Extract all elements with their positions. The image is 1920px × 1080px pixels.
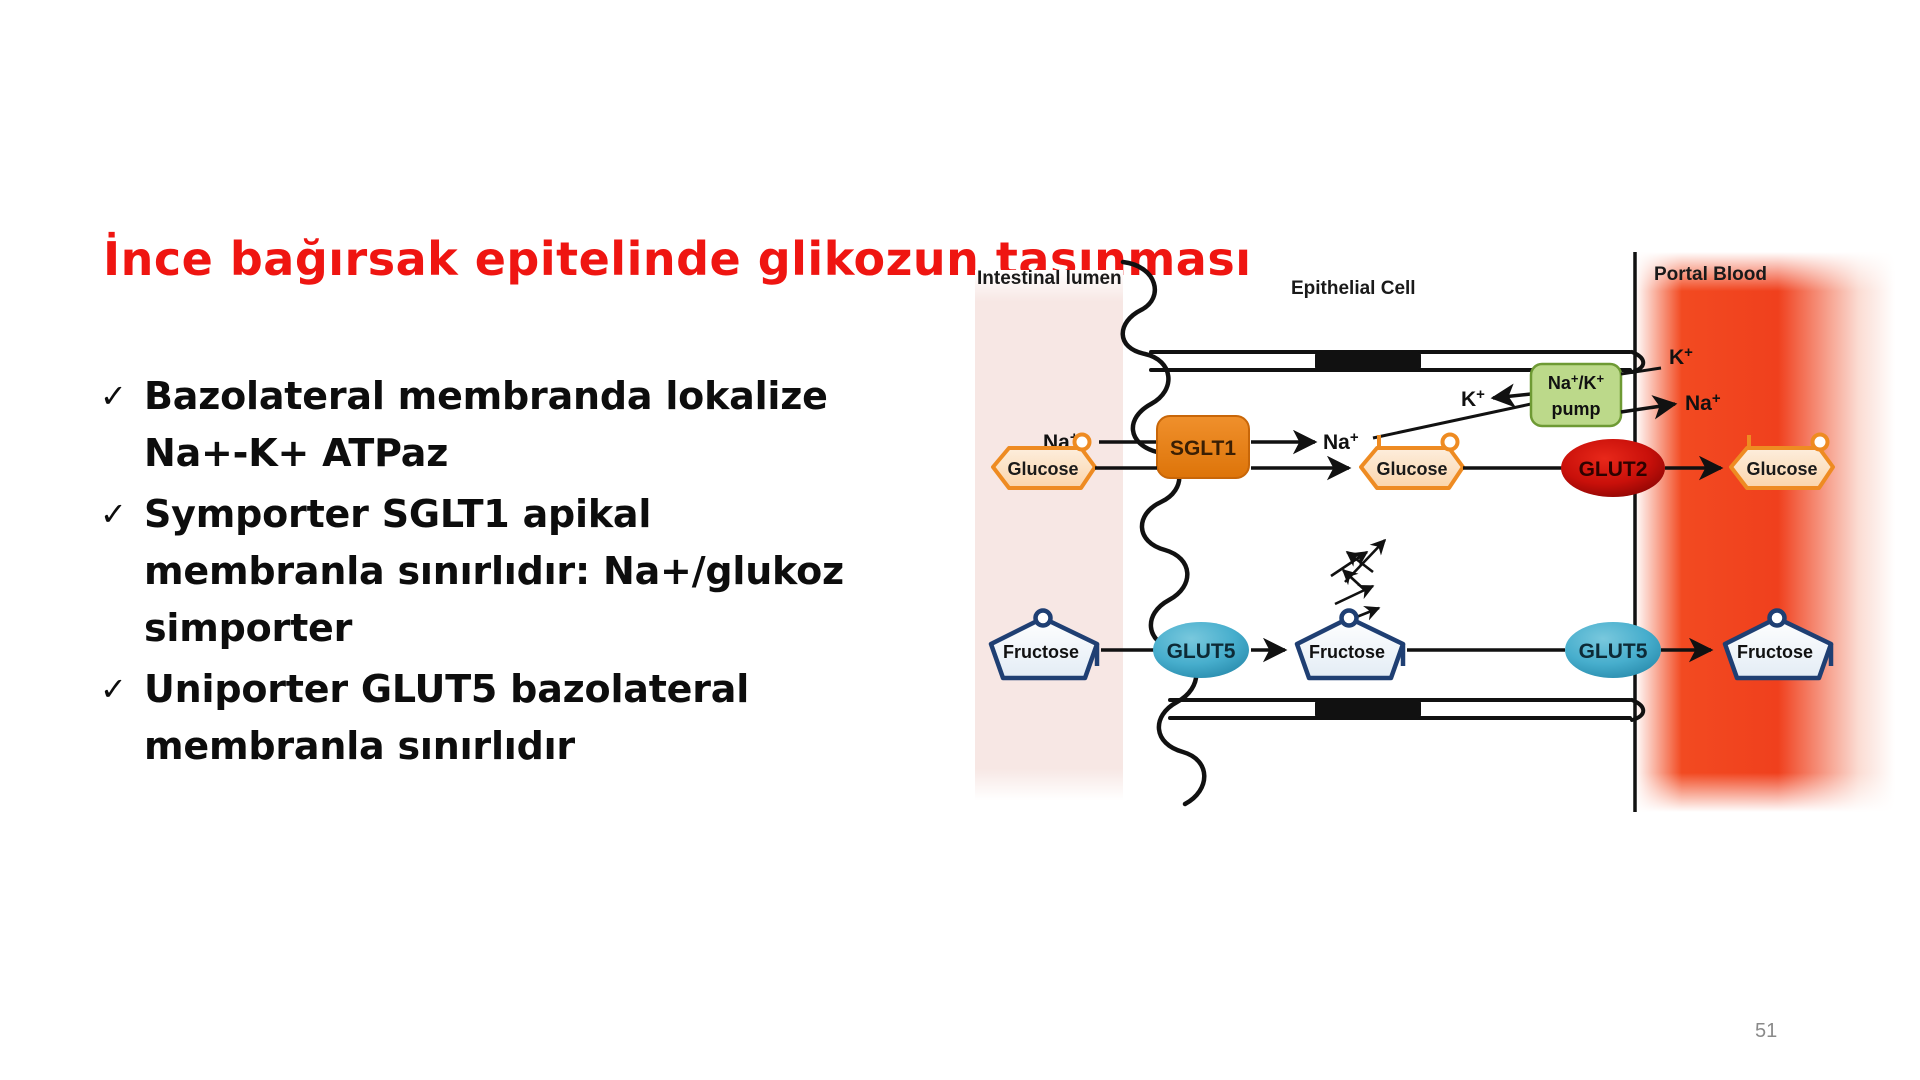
sglt1-transporter: SGLT1 [1157, 416, 1249, 478]
list-item: ✓ Bazolateral membranda lokalize Na+-K+ … [100, 368, 930, 482]
glut2-transporter: GLUT2 [1561, 439, 1665, 497]
list-item-label: Uniporter GLUT5 bazolateral membranla sı… [144, 661, 749, 775]
glut5-apical-label: GLUT5 [1167, 640, 1236, 663]
list-item-line: Uniporter GLUT5 bazolateral [144, 661, 749, 718]
na-k-pump-label-line2: pump [1552, 399, 1601, 419]
glut5-basolateral-transporter: GLUT5 [1565, 622, 1661, 678]
glucose-transport-diagram: Intestinal lumen Epithelial Cell Portal … [975, 252, 1895, 812]
glut5-basolateral-label: GLUT5 [1579, 640, 1648, 663]
na-k-pump: Na+/K+ pump [1531, 364, 1621, 426]
apical-membrane [1123, 262, 1205, 804]
na-cell-label: Na+ [1323, 429, 1359, 454]
fructose-cell-molecule: Fructose [1297, 611, 1403, 679]
list-item: ✓ Uniporter GLUT5 bazolateral membranla … [100, 661, 930, 775]
intestinal-lumen-label: Intestinal lumen [977, 268, 1122, 289]
diffusion-arrows [1331, 540, 1385, 624]
list-item-line: membranla sınırlıdır [144, 718, 749, 775]
pump-to-k-cell-arrow [1493, 394, 1531, 398]
list-item-line: membranla sınırlıdır: Na+/glukoz [144, 543, 844, 600]
k-cell-label: K+ [1461, 386, 1485, 411]
glucose-lumen-label: Glucose [1007, 459, 1078, 479]
checkmark-icon: ✓ [100, 368, 144, 425]
sglt1-label: SGLT1 [1170, 437, 1236, 460]
fructose-blood-label: Fructose [1737, 642, 1813, 662]
glut5-apical-transporter: GLUT5 [1153, 622, 1249, 678]
glucose-blood-label: Glucose [1746, 459, 1817, 479]
list-item-line: simporter [144, 600, 844, 657]
checkmark-icon: ✓ [100, 661, 144, 718]
glucose-cell-label: Glucose [1376, 459, 1447, 479]
fructose-cell-label: Fructose [1309, 642, 1385, 662]
list-item-line: Symporter SGLT1 apikal [144, 486, 844, 543]
list-item-label: Bazolateral membranda lokalize Na+-K+ AT… [144, 368, 828, 482]
slide-page-number: 51 [1755, 1020, 1777, 1043]
epithelial-cell-label: Epithelial Cell [1291, 278, 1416, 299]
fructose-lumen-label: Fructose [1003, 642, 1079, 662]
glut2-label: GLUT2 [1579, 458, 1648, 481]
glucose-cell-molecule: Glucose [1361, 435, 1463, 489]
compartment-backgrounds [975, 252, 1895, 812]
list-item-label: Symporter SGLT1 apikal membranla sınırlı… [144, 486, 844, 657]
checkmark-icon: ✓ [100, 486, 144, 543]
bullet-list: ✓ Bazolateral membranda lokalize Na+-K+ … [100, 368, 930, 779]
list-item-line: Bazolateral membranda lokalize [144, 368, 828, 425]
portal-blood-label: Portal Blood [1654, 264, 1767, 285]
list-item-line: Na+-K+ ATPaz [144, 425, 828, 482]
list-item: ✓ Symporter SGLT1 apikal membranla sınır… [100, 486, 930, 657]
